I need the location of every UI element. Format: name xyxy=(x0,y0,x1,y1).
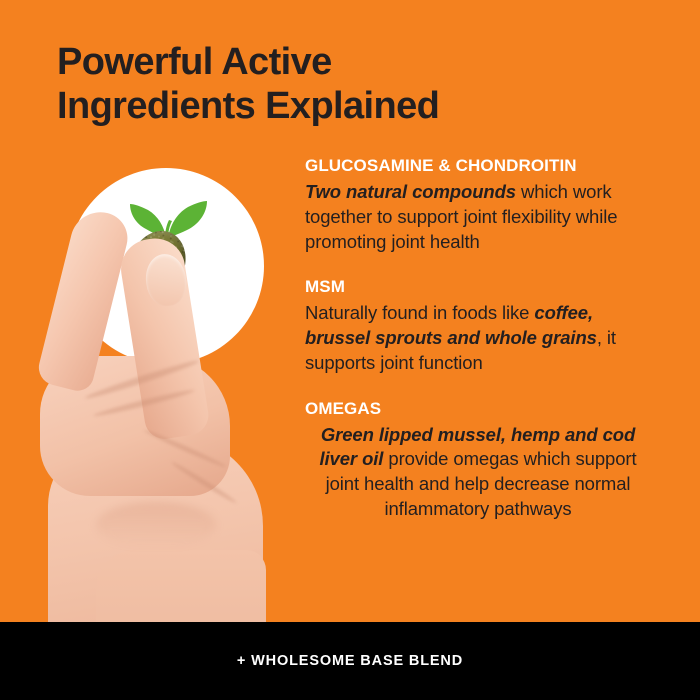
ingredient-body: Two natural compounds which work togethe… xyxy=(305,180,651,254)
ingredient-heading: MSM xyxy=(305,276,651,299)
ingredient-block-glucosamine: GLUCOSAMINE & CHONDROITIN Two natural co… xyxy=(305,155,651,254)
ingredient-block-omegas: OMEGAS Green lipped mussel, hemp and cod… xyxy=(305,398,651,522)
footer-bar: + WHOLESOME BASE BLEND xyxy=(0,622,700,700)
ingredient-heading: GLUCOSAMINE & CHONDROITIN xyxy=(305,155,651,178)
hand-shadow-fold xyxy=(96,502,216,548)
hero-illustration xyxy=(0,150,300,622)
ingredient-body-lead: Naturally found in foods like xyxy=(305,302,534,323)
ingredients-list: GLUCOSAMINE & CHONDROITIN Two natural co… xyxy=(305,155,651,522)
ingredient-block-msm: MSM Naturally found in foods like coffee… xyxy=(305,276,651,375)
hand-holding-tablet xyxy=(0,150,300,622)
ingredient-body: Naturally found in foods like coffee, br… xyxy=(305,301,651,375)
ingredient-body-emphasis: Two natural compounds xyxy=(305,181,516,202)
ingredient-body: Green lipped mussel, hemp and cod liver … xyxy=(305,423,651,522)
footer-text: + WHOLESOME BASE BLEND xyxy=(237,653,463,669)
page-title: Powerful Active Ingredients Explained xyxy=(57,40,617,129)
ingredient-heading: OMEGAS xyxy=(305,398,651,421)
